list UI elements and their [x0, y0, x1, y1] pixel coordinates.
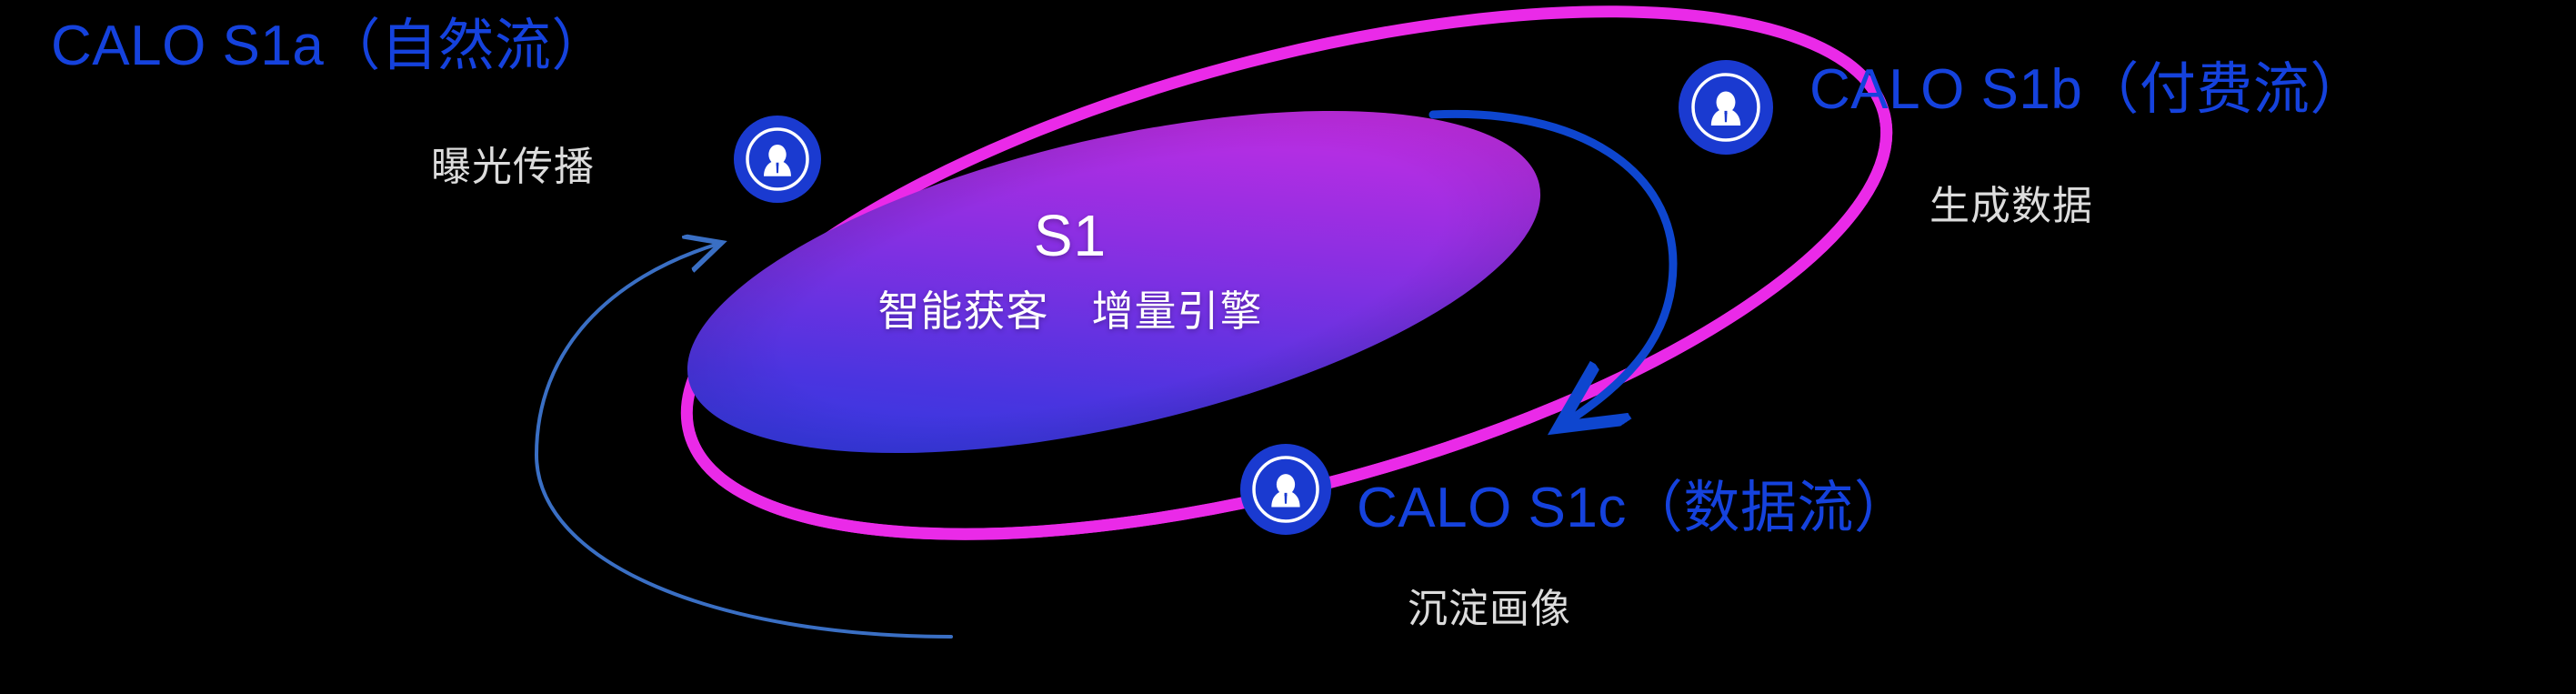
diagram-canvas: S1 智能获客 增量引擎 CALO S1a（自然流） 曝光传播 CALO S1b… [0, 0, 2576, 694]
node-s1c[interactable] [1240, 444, 1331, 535]
core-title: S1 [661, 202, 1479, 269]
node-s1b[interactable] [1679, 60, 1773, 155]
orbit-diagram [0, 0, 2576, 694]
node-s1a[interactable] [734, 116, 821, 203]
core-subtitle: 智能获客 增量引擎 [661, 278, 1479, 338]
